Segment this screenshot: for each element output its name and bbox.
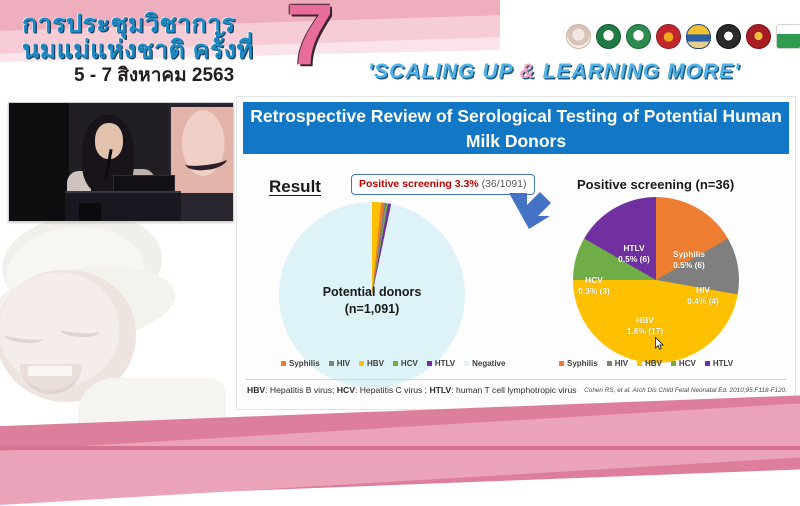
legend-label-hiv: HIV bbox=[337, 359, 350, 368]
legend-item-syphilis: Syphilis bbox=[281, 359, 320, 368]
legend-item-hcv: HCV bbox=[393, 359, 418, 368]
pie-slice-label-hiv-value: 0.4% (4) bbox=[679, 296, 727, 307]
footer-bottom-edge bbox=[0, 446, 800, 450]
legend-swatch-htlv-icon bbox=[427, 361, 432, 366]
presentation-screen: การประชุมวิชาการ นมแม่แห่งชาติ ครั้งที่ … bbox=[0, 0, 800, 450]
pie-slice-label-hcv-name: HCV bbox=[571, 275, 617, 286]
pie-slice-label-hiv: HIV 0.4% (4) bbox=[679, 285, 727, 306]
legend-swatch-syphilis-icon bbox=[281, 361, 286, 366]
legend-item-hbv: HBV bbox=[359, 359, 384, 368]
slide-title: Retrospective Review of Serological Test… bbox=[243, 102, 789, 154]
pie-slice-label-hbv: HBV 1.6% (17) bbox=[617, 315, 673, 336]
callout-highlight-text: Positive screening 3.3% bbox=[359, 178, 479, 190]
footnote-text-2: : Hepatitis C virus ; bbox=[355, 385, 430, 395]
logo-royal-thai-government-icon bbox=[686, 24, 711, 49]
tagline-part1: 'SCALING UP bbox=[368, 60, 520, 83]
legend2-item-hbv: HBV bbox=[637, 359, 662, 368]
logo-black-seal-icon bbox=[716, 24, 741, 49]
pie-slice-label-hbv-value: 1.6% (17) bbox=[617, 326, 673, 337]
logo-thaihealth-sss-icon bbox=[776, 24, 800, 49]
legend-label-syphilis: Syphilis bbox=[289, 359, 320, 368]
legend2-label-htlv: HTLV bbox=[713, 359, 733, 368]
pie-slice-label-hiv-name: HIV bbox=[679, 285, 727, 296]
footnote-text-3: : human T cell lymphotropic virus bbox=[451, 385, 576, 395]
footnote-key-htlv: HTLV bbox=[429, 385, 451, 395]
legend2-swatch-syphilis-icon bbox=[559, 361, 564, 366]
pie-slice-label-hcv-value: 0.3% (3) bbox=[571, 286, 617, 297]
logo-ministry-public-health-1-icon bbox=[596, 24, 621, 49]
potential-donors-label: Potential donors bbox=[279, 284, 465, 301]
legend2-label-hbv: HBV bbox=[645, 359, 662, 368]
sponsor-logo-row bbox=[566, 24, 800, 49]
logo-royal-emblem-icon bbox=[566, 24, 591, 49]
legend-positive-screening: Syphilis HIV HBV HCV HTLV bbox=[559, 359, 733, 368]
mouse-cursor-icon bbox=[655, 337, 664, 350]
pie-slice-label-hcv: HCV 0.3% (3) bbox=[571, 275, 617, 296]
legend2-label-syphilis: Syphilis bbox=[567, 359, 598, 368]
logo-thai-red-cross-icon bbox=[656, 24, 681, 49]
legend-swatch-negative-icon bbox=[464, 361, 469, 366]
pie-chart-positive-screening-title: Positive screening (n=36) bbox=[577, 177, 734, 192]
logo-red-seal-icon bbox=[746, 24, 771, 49]
conference-date: 5 - 7 สิงหาคม 2563 bbox=[74, 60, 234, 90]
pie-slice-label-syphilis-value: 0.5% (6) bbox=[661, 260, 717, 271]
footnote-key-hcv: HCV bbox=[337, 385, 355, 395]
podium-front-panel bbox=[79, 203, 101, 221]
pie-slice-label-syphilis-name: Syphilis bbox=[661, 249, 717, 260]
legend2-swatch-hcv-icon bbox=[671, 361, 676, 366]
pie-slice-label-hbv-name: HBV bbox=[617, 315, 673, 326]
slide-citation: Cohen RS, et al. Arch Dis Child Fetal Ne… bbox=[584, 387, 787, 394]
legend-item-hiv: HIV bbox=[329, 359, 350, 368]
legend-label-hcv: HCV bbox=[401, 359, 418, 368]
pie-chart-potential-donors-center-label: Potential donors (n=1,091) bbox=[279, 284, 465, 318]
pie-slice-label-htlv-value: 0.5% (6) bbox=[609, 254, 659, 265]
result-heading: Result bbox=[269, 177, 321, 197]
baby-teeth bbox=[28, 366, 72, 376]
logo-ministry-public-health-2-icon bbox=[626, 24, 651, 49]
conference-edition-number: 7 bbox=[286, 0, 334, 78]
legend2-item-syphilis: Syphilis bbox=[559, 359, 598, 368]
slide-content: Retrospective Review of Serological Test… bbox=[236, 96, 796, 410]
conference-tagline: 'SCALING UP & LEARNING MORE' bbox=[368, 60, 740, 84]
pie-slice-label-htlv-name: HTLV bbox=[609, 243, 659, 254]
legend-label-negative: Negative bbox=[472, 359, 505, 368]
speaker-video-panel[interactable] bbox=[8, 102, 234, 222]
legend2-swatch-hiv-icon bbox=[607, 361, 612, 366]
legend-swatch-hcv-icon bbox=[393, 361, 398, 366]
legend-item-negative: Negative bbox=[464, 359, 505, 368]
conference-header-banner: การประชุมวิชาการ นมแม่แห่งชาติ ครั้งที่ … bbox=[0, 0, 800, 95]
legend2-label-hcv: HCV bbox=[679, 359, 696, 368]
potential-donors-count: (n=1,091) bbox=[279, 301, 465, 318]
legend-item-htlv: HTLV bbox=[427, 359, 455, 368]
footnote-divider bbox=[245, 379, 787, 380]
baby-watermark-image bbox=[0, 212, 226, 427]
legend2-item-hiv: HIV bbox=[607, 359, 628, 368]
legend2-item-htlv: HTLV bbox=[705, 359, 733, 368]
video-background-left bbox=[9, 103, 69, 221]
legend-potential-donors: Syphilis HIV HBV HCV HTLV Negative bbox=[281, 359, 505, 368]
slide-footnote: HBV: Hepatitis B virus; HCV: Hepatitis C… bbox=[247, 385, 577, 395]
footnote-key-hbv: HBV bbox=[247, 385, 265, 395]
blue-arrow-icon bbox=[507, 189, 553, 231]
legend-label-htlv: HTLV bbox=[435, 359, 455, 368]
legend-swatch-hbv-icon bbox=[359, 361, 364, 366]
tagline-part2: LEARNING MORE' bbox=[536, 60, 740, 83]
legend2-item-hcv: HCV bbox=[671, 359, 696, 368]
legend-swatch-hiv-icon bbox=[329, 361, 334, 366]
legend2-label-hiv: HIV bbox=[615, 359, 628, 368]
footnote-text-1: : Hepatitis B virus; bbox=[265, 385, 337, 395]
legend2-swatch-hbv-icon bbox=[637, 361, 642, 366]
tagline-ampersand: & bbox=[520, 60, 536, 83]
legend2-swatch-htlv-icon bbox=[705, 361, 710, 366]
pie-slice-label-syphilis: Syphilis 0.5% (6) bbox=[661, 249, 717, 270]
video-projection-screen bbox=[171, 107, 233, 193]
legend-label-hbv: HBV bbox=[367, 359, 384, 368]
pie-slice-label-htlv: HTLV 0.5% (6) bbox=[609, 243, 659, 264]
